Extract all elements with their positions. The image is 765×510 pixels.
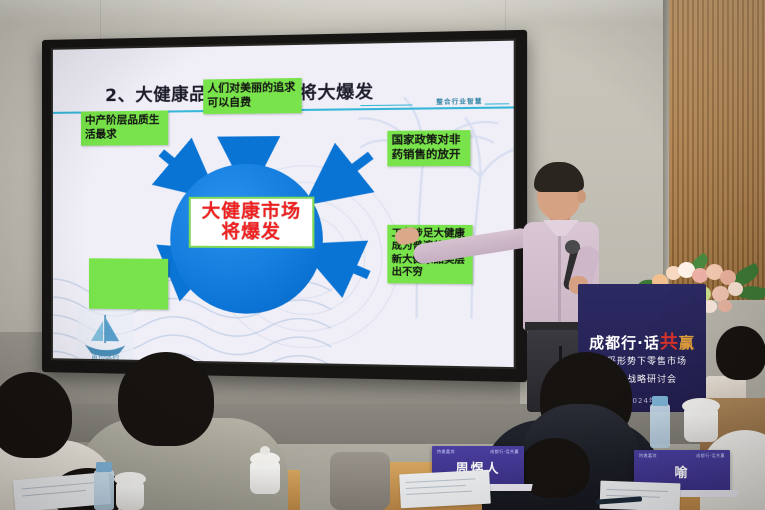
- water-bottle: [650, 404, 670, 448]
- handout-paper: [600, 481, 681, 510]
- bottle-cap: [96, 462, 112, 472]
- chair-back: [330, 452, 390, 510]
- slide-surface: 富扬医药 2、大健康品类与服务必将大爆发 整合行业智慧: [53, 41, 514, 367]
- handout-paper: [399, 470, 491, 509]
- placard-logo-right: 成都行·话共赢: [490, 449, 519, 455]
- callout-left-bottom: [89, 258, 168, 309]
- banner-headline: 成都行·话共赢: [578, 328, 706, 354]
- water-bottle: [94, 470, 114, 510]
- presenter-hair: [534, 162, 584, 192]
- placard-name: 喻: [634, 462, 730, 481]
- tea-cup: [116, 482, 144, 510]
- diagram-center-label: 大健康市场将爆发: [189, 197, 315, 249]
- tea-cup-lid: [114, 472, 146, 486]
- bottle-cap: [652, 396, 668, 406]
- tea-cup: [250, 462, 280, 494]
- banner-headline-part2: 共: [660, 332, 679, 353]
- presenter-ear: [577, 190, 586, 203]
- audience-head: [118, 352, 214, 446]
- placard-logo-right: 成都行·话共赢: [696, 453, 725, 459]
- conference-photo-scene: 富扬医药 2、大健康品类与服务必将大爆发 整合行业智慧: [0, 0, 765, 510]
- placard-logo-left: 特邀嘉宾: [437, 449, 455, 455]
- banner-headline-part1: 成都行·话: [589, 334, 660, 352]
- placard-logo-left: 特邀嘉宾: [639, 453, 657, 459]
- presenter-shirt-placket: [558, 230, 561, 322]
- ceiling-highlight: [0, 0, 765, 22]
- audience-head: [716, 326, 765, 380]
- callout-top-center: 人们对美丽的追求可以自费: [203, 78, 301, 114]
- tea-cup-lid: [682, 398, 720, 414]
- callout-left-top: 中产阶层品质生活最求: [81, 110, 168, 145]
- banner-headline-part3: 赢: [679, 334, 695, 352]
- screen-bezel: 富扬医药 2、大健康品类与服务必将大爆发 整合行业智慧: [51, 39, 516, 370]
- tea-cup-knob: [260, 446, 270, 455]
